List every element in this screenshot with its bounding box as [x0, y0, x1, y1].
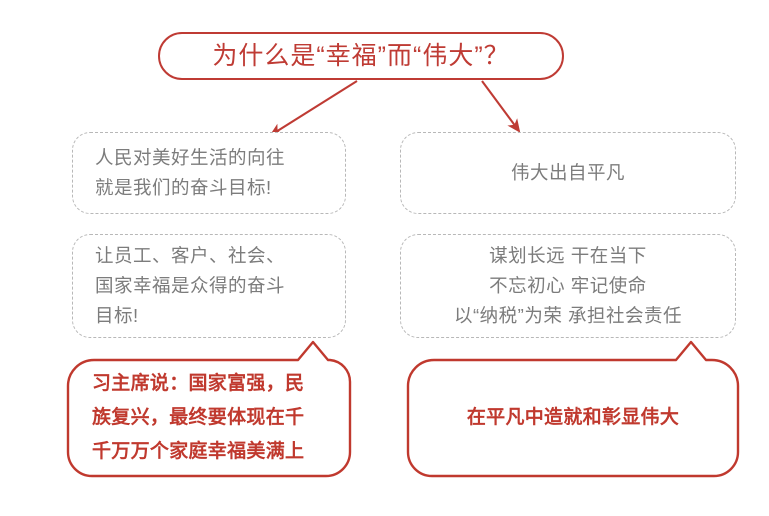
- left-callout-line-3: 千万万个家庭幸福美满上: [92, 435, 304, 469]
- page-title: 为什么是“幸福”而“伟大”？: [212, 44, 509, 69]
- left-callout-line-2: 族复兴，最终要体现在千: [92, 401, 304, 435]
- right-box2-line-2: 不忘初心 牢记使命: [489, 271, 647, 301]
- left-box2-line-3: 目标!: [95, 301, 139, 331]
- left-statement-box-2: 让员工、客户、社会、 国家幸福是众得的奋斗 目标!: [72, 234, 346, 338]
- arrow-title-to-left: [271, 81, 357, 135]
- right-box2-line-3: 以“纳税”为荣 承担社会责任: [454, 301, 682, 331]
- right-box2-line-1: 谋划长远 干在当下: [489, 241, 647, 271]
- left-box1-line-2: 就是我们的奋斗目标!: [95, 173, 272, 203]
- arrow-title-to-right: [482, 81, 519, 131]
- right-callout-line-1: 在平凡中造就和彰显伟大: [467, 401, 679, 435]
- right-box1-line-1: 伟大出自平凡: [511, 158, 625, 188]
- right-callout-bubble: 在平凡中造就和彰显伟大: [406, 340, 740, 478]
- left-box2-line-2: 国家幸福是众得的奋斗: [95, 271, 285, 301]
- left-callout-bubble: 习主席说：国家富强，民 族复兴，最终要体现在千 千万万个家庭幸福美满上: [66, 340, 352, 478]
- left-box2-line-1: 让员工、客户、社会、: [95, 241, 285, 271]
- left-callout-line-1: 习主席说：国家富强，民: [92, 367, 304, 401]
- left-callout-text: 习主席说：国家富强，民 族复兴，最终要体现在千 千万万个家庭幸福美满上: [66, 358, 352, 478]
- left-box1-line-1: 人民对美好生活的向往: [95, 143, 285, 173]
- left-statement-box-1: 人民对美好生活的向往 就是我们的奋斗目标!: [72, 132, 346, 214]
- diagram-canvas: 为什么是“幸福”而“伟大”？ 人民对美好生活的向往 就是我们的奋斗目标! 让员工…: [0, 0, 769, 516]
- diagram-title-box: 为什么是“幸福”而“伟大”？: [158, 32, 564, 80]
- right-statement-box-1: 伟大出自平凡: [400, 132, 736, 214]
- right-callout-text: 在平凡中造就和彰显伟大: [406, 358, 740, 478]
- right-statement-box-2: 谋划长远 干在当下 不忘初心 牢记使命 以“纳税”为荣 承担社会责任: [400, 234, 736, 338]
